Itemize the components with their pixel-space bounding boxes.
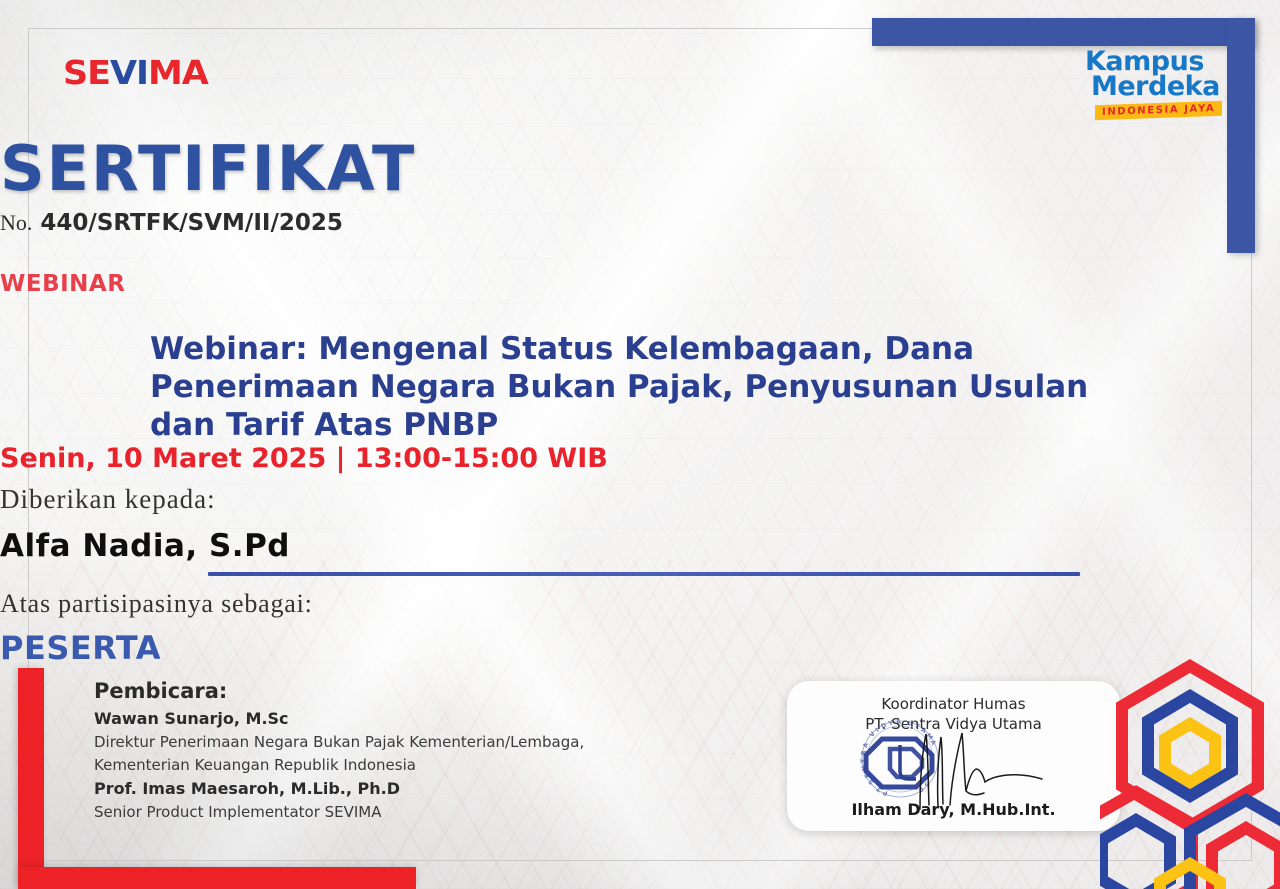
speakers-heading: Pembicara: <box>94 679 584 703</box>
speaker-role-1-line2: Kementerian Keuangan Republik Indonesia <box>94 754 584 777</box>
event-title: Webinar: Mengenal Status Kelembagaan, Da… <box>150 330 1130 444</box>
recipient-name: Alfa Nadia, S.Pd <box>0 528 1280 564</box>
certificate-number: No. 440/SRTFK/SVM/II/2025 <box>0 210 1280 236</box>
certificate-number-value: 440/SRTFK/SVM/II/2025 <box>40 210 342 236</box>
kampus-merdeka-logo: Kampus Merdeka INDONESIA JAYA <box>1085 50 1235 118</box>
sevima-logo-part-blue: VI <box>110 53 148 92</box>
speaker-name-1: Wawan Sunarjo, M.Sc <box>94 707 584 731</box>
sevima-logo: SEVIMA <box>63 56 208 89</box>
sevima-logo-part-red-2: MA <box>148 53 208 92</box>
sevima-logo-part-red-1: SE <box>63 53 110 92</box>
event-type-label: WEBINAR <box>0 271 1280 297</box>
certificate-number-prefix: No. <box>0 210 32 235</box>
speaker-name-2: Prof. Imas Maesaroh, M.Lib., Ph.D <box>94 777 584 801</box>
participation-role: PESERTA <box>0 629 1280 667</box>
signature-card: Koordinator Humas PT. Sentra Vidya Utama… <box>787 681 1120 831</box>
corner-bracket-red-vertical <box>18 668 44 889</box>
speaker-role-2-line1: Senior Product Implementator SEVIMA <box>94 801 584 824</box>
certificate-page: SEVIMA Kampus Merdeka INDONESIA JAYA SER… <box>0 0 1280 889</box>
speaker-role-1-line1: Direktur Penerimaan Negara Bukan Pajak K… <box>94 731 584 754</box>
signature-signer-name: Ilham Dary, M.Hub.Int. <box>787 800 1120 819</box>
participation-label: Atas partisipasinya sebagai: <box>0 589 1280 619</box>
svg-text:U: U <box>907 720 913 728</box>
corner-bracket-blue-horizontal <box>872 18 1255 46</box>
corner-bracket-red-horizontal <box>18 867 416 889</box>
stamp-signature-svg: P T S E N T R A V I D Y A U T <box>842 709 1092 814</box>
given-to-label: Diberikan kepada: <box>0 484 1280 515</box>
official-stamp-and-signature: P T S E N T R A V I D Y A U T <box>842 709 1092 814</box>
kampus-merdeka-banner: INDONESIA JAYA <box>1095 100 1222 119</box>
svg-text:A: A <box>896 719 902 726</box>
speakers-section: Pembicara: Wawan Sunarjo, M.Sc Direktur … <box>94 679 584 824</box>
hexagon-decoration <box>1100 654 1280 889</box>
handwritten-signature-icon <box>920 733 1042 809</box>
event-datetime: Senin, 10 Maret 2025 | 13:00-15:00 WIB <box>0 443 1280 474</box>
recipient-divider-line <box>208 572 1080 576</box>
hexagon-decoration-svg <box>1100 654 1280 889</box>
kampus-merdeka-line2: Merdeka <box>1091 75 1235 100</box>
certificate-heading: SERTIFIKAT <box>0 132 1280 205</box>
